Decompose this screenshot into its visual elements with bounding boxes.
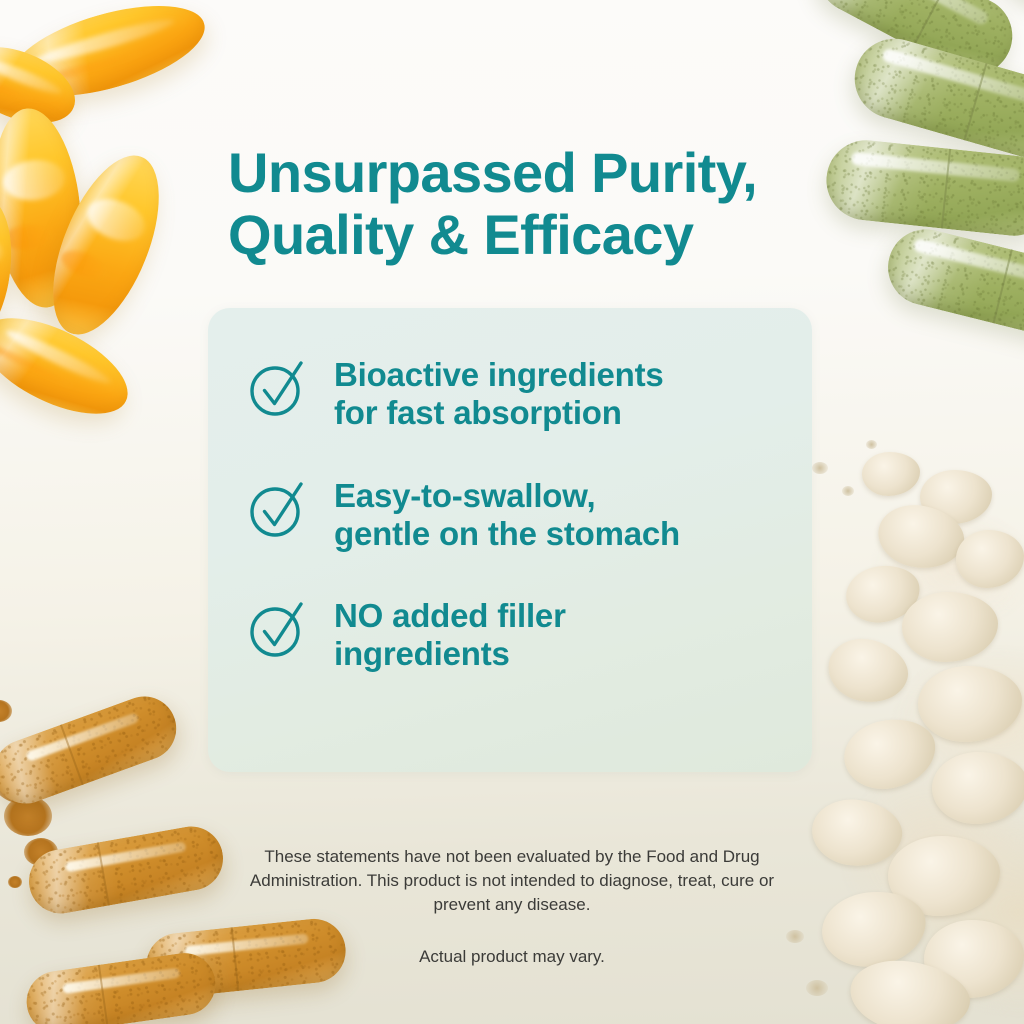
green-capsule: [934, 0, 1024, 18]
fda-disclaimer: These statements have not been evaluated…: [222, 845, 802, 917]
benefit-item: Bioactive ingredients for fast absorptio…: [248, 354, 786, 433]
benefit-line-1: Easy-to-swallow,: [334, 477, 595, 514]
powder-clump: [845, 952, 975, 1024]
benefit-text: Bioactive ingredients for fast absorptio…: [334, 354, 664, 433]
headline-line-1: Unsurpassed Purity,: [228, 141, 757, 204]
benefit-line-1: Bioactive ingredients: [334, 356, 664, 393]
check-circle-icon: [248, 479, 308, 539]
turmeric-powder-scatter: [8, 876, 22, 888]
turmeric-powder-scatter: [24, 838, 58, 866]
powder-clump: [862, 452, 920, 496]
powder-clump: [821, 630, 915, 712]
powder-clump: [924, 920, 1024, 998]
green-capsule: [845, 29, 1024, 167]
promo-graphic: Unsurpassed Purity, Quality & Efficacy B…: [0, 0, 1024, 1024]
softgel-capsule: [0, 32, 86, 138]
softgel-capsule: [0, 192, 20, 350]
turmeric-powder-scatter: [4, 796, 52, 836]
powder-clump: [808, 794, 906, 872]
page-title: Unsurpassed Purity, Quality & Efficacy: [228, 142, 828, 266]
benefits-list: Bioactive ingredients for fast absorptio…: [248, 354, 786, 674]
benefit-text: Easy-to-swallow, gentle on the stomach: [334, 475, 680, 554]
benefit-line-1: NO added filler: [334, 597, 566, 634]
powder-clump: [842, 561, 923, 627]
turmeric-capsule: [23, 949, 220, 1024]
powder-clump: [920, 470, 992, 524]
powder-clump: [956, 530, 1024, 588]
turmeric-capsule: [0, 687, 185, 812]
softgel-capsule: [31, 141, 180, 349]
powder-clump: [839, 713, 941, 796]
powder-clump: [872, 498, 969, 577]
green-capsule: [880, 221, 1024, 347]
powder-clump: [888, 836, 1000, 916]
powder-clump: [902, 592, 998, 662]
green-capsule: [822, 136, 1024, 239]
turmeric-powder-scatter: [40, 874, 58, 889]
softgel-capsule: [2, 0, 215, 114]
benefit-item: Easy-to-swallow, gentle on the stomach: [248, 475, 786, 554]
green-capsule: [804, 0, 1024, 89]
product-variance-note: Actual product may vary.: [222, 945, 802, 969]
powder-clump: [818, 887, 929, 971]
turmeric-powder-scatter: [0, 700, 12, 722]
powder-clump: [918, 666, 1022, 742]
turmeric-capsule: [24, 821, 228, 918]
powder-clump: [932, 752, 1024, 824]
benefit-item: NO added filler ingredients: [248, 595, 786, 674]
check-circle-icon: [248, 599, 308, 659]
benefits-card: Bioactive ingredients for fast absorptio…: [208, 308, 812, 772]
benefit-line-2: gentle on the stomach: [334, 515, 680, 552]
softgel-capsule: [0, 104, 90, 312]
check-circle-icon: [248, 358, 308, 418]
headline-line-2: Quality & Efficacy: [228, 203, 693, 266]
benefit-line-2: ingredients: [334, 635, 510, 672]
benefit-line-2: for fast absorption: [334, 394, 622, 431]
benefit-text: NO added filler ingredients: [334, 595, 566, 674]
softgel-capsule: [0, 299, 142, 434]
turmeric-powder-scatter: [0, 752, 56, 804]
disclaimer-block: These statements have not been evaluated…: [222, 845, 802, 969]
